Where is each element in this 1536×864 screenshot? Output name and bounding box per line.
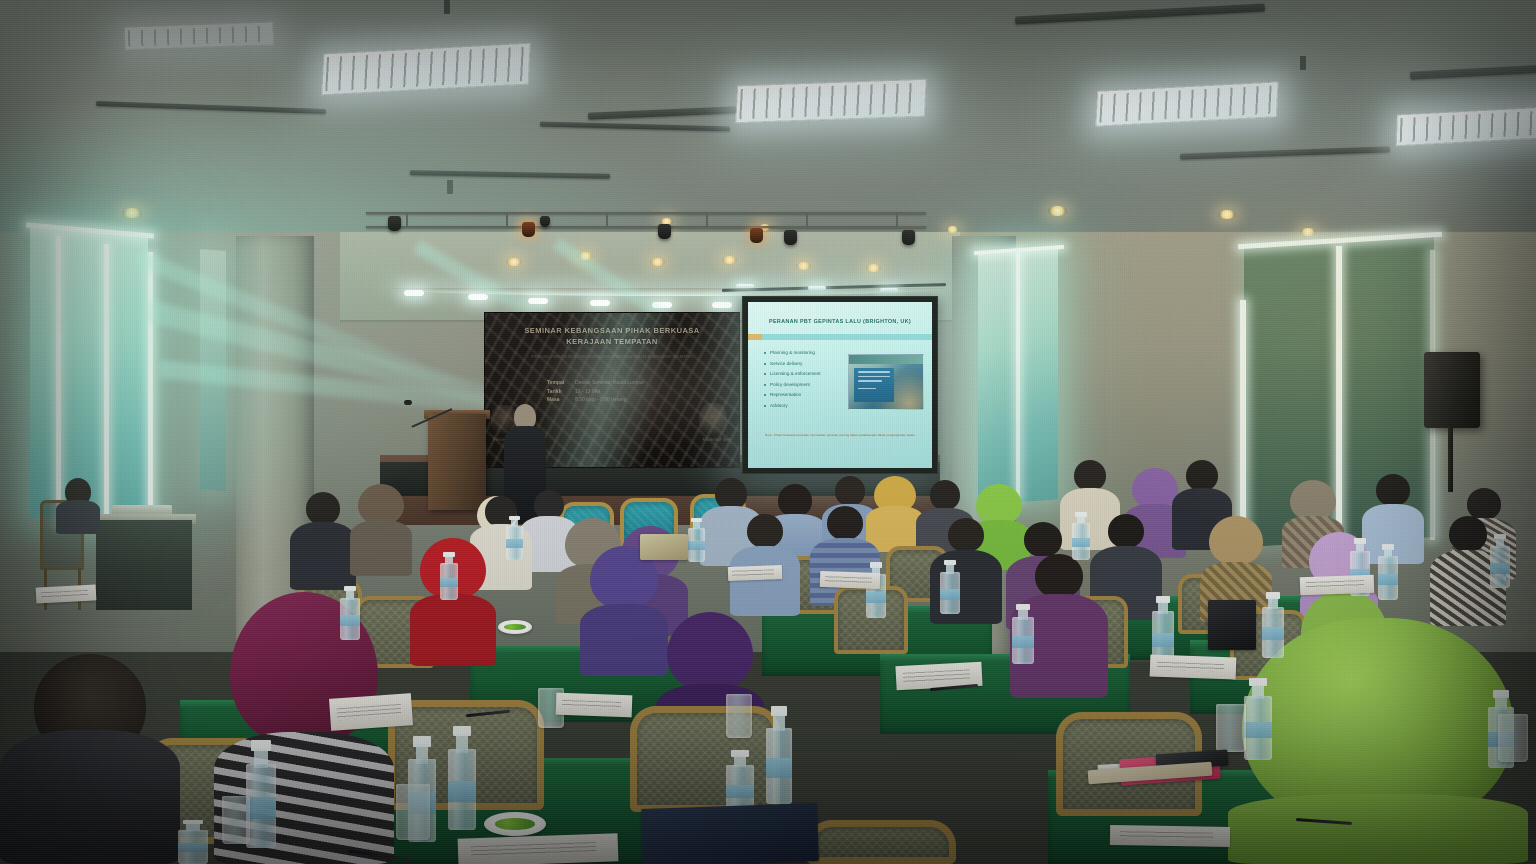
cove-lamp (652, 302, 672, 308)
downlight (650, 258, 665, 266)
water-bottle[interactable] (1378, 544, 1398, 600)
banner-portrait-right (699, 403, 727, 441)
cove-lamp (590, 300, 610, 306)
document-folder[interactable] (641, 803, 819, 864)
window-left-near (200, 249, 226, 491)
slide-bullet: Representation (764, 390, 860, 401)
slide-footnote: Nota : Pihak berkuasa tempatan memainkan… (762, 433, 918, 438)
drinking-glass[interactable] (222, 796, 250, 844)
downlight (722, 256, 737, 264)
ceiling-hanger (444, 0, 450, 14)
drinking-glass[interactable] (726, 694, 752, 738)
drinking-glass[interactable] (1498, 714, 1528, 762)
window-mullion (1016, 250, 1020, 500)
water-bottle[interactable] (440, 552, 458, 600)
cove-lamp (468, 294, 488, 300)
ceiling-hanger (447, 180, 453, 194)
water-bottle[interactable] (766, 706, 792, 804)
stage-spotlight (540, 216, 550, 227)
window-mullion (148, 252, 153, 536)
drinking-glass[interactable] (396, 784, 430, 840)
handout-paper[interactable] (329, 693, 413, 731)
track-lamp (736, 284, 754, 288)
stage-spotlight (388, 216, 401, 231)
water-bottle[interactable] (1262, 592, 1284, 658)
microphone-icon (404, 400, 412, 405)
downlight (1218, 210, 1236, 219)
cove-lamp (712, 302, 732, 308)
audience-person (290, 492, 356, 590)
slide-bullet: Service delivery (764, 359, 860, 370)
water-bottle[interactable] (940, 560, 960, 614)
ceiling-light-panel (735, 79, 927, 124)
downlight (1300, 228, 1316, 236)
banquet-chair[interactable] (806, 820, 956, 864)
handout-paper[interactable] (1110, 825, 1230, 847)
water-bottle[interactable] (340, 586, 360, 640)
water-bottle[interactable] (506, 516, 523, 560)
audience-person (350, 484, 412, 576)
water-bottle[interactable] (1490, 534, 1510, 588)
speaker-stand (1448, 426, 1453, 492)
loudspeaker (1424, 352, 1480, 428)
cove-lamp (528, 298, 548, 304)
handout-paper[interactable] (728, 565, 782, 581)
downlight (866, 264, 881, 272)
projection-screen: PERANAN PBT GEPINTAS LALU (BRIGHTON, UK)… (742, 296, 938, 474)
water-bottle[interactable] (688, 518, 705, 562)
downlight (796, 262, 811, 270)
window-frame (1240, 300, 1246, 545)
slide-bullet: Advisory (764, 401, 860, 412)
banquet-chair[interactable] (630, 706, 780, 812)
water-bottle[interactable] (866, 562, 886, 618)
seated-person (56, 478, 100, 534)
water-bottle[interactable] (1012, 604, 1034, 664)
window-mullion (104, 244, 109, 532)
slide-accent-bar (748, 334, 932, 340)
downlight (506, 258, 522, 266)
slide-embedded-screenshot (848, 354, 924, 410)
drinking-glass[interactable] (1216, 704, 1246, 752)
slide-bullet: Licensing & enforcement (764, 369, 860, 380)
water-bottle[interactable] (178, 820, 208, 864)
water-bottle[interactable] (1072, 512, 1090, 560)
track-lamp (880, 288, 898, 292)
stage-spotlight (750, 228, 763, 243)
slide-title: PERANAN PBT GEPINTAS LALU (BRIGHTON, UK) (754, 319, 926, 325)
stage-spotlight (902, 230, 915, 245)
mint-plate[interactable] (484, 812, 546, 836)
foreground-person-left (0, 650, 180, 864)
handout-paper[interactable] (820, 571, 881, 589)
track-lamp (808, 286, 826, 290)
document-folder[interactable] (1208, 600, 1256, 650)
projected-slide: PERANAN PBT GEPINTAS LALU (BRIGHTON, UK)… (748, 302, 932, 468)
stage-spotlight (658, 224, 671, 239)
slide-bullet: Planning & monitoring (764, 348, 860, 359)
stage-spotlight (784, 230, 797, 245)
cove-lamp (404, 290, 424, 296)
downlight (122, 208, 142, 218)
slide-bullet-list: Planning & monitoring Service delivery L… (764, 348, 860, 411)
handout-paper[interactable] (1150, 655, 1237, 680)
side-table (96, 520, 192, 610)
handout-paper[interactable] (556, 693, 633, 718)
downlight (578, 252, 593, 260)
mint-plate[interactable] (498, 620, 532, 634)
document-folder[interactable] (640, 534, 688, 560)
audience-person (580, 546, 668, 676)
banner-subtitle: PERANCANGAN DAN PENGURUSAN PENGANGKUTAN … (495, 353, 729, 360)
handout-paper[interactable] (458, 833, 619, 864)
conference-hall-photo: SEMINAR KEBANGSAAN PIHAK BERKUASA KERAJA… (0, 0, 1536, 864)
lighting-truss (366, 210, 926, 236)
water-bottle[interactable] (1244, 678, 1272, 760)
slide-bullet: Policy development (764, 380, 860, 391)
stage-spotlight (522, 222, 535, 237)
water-bottle[interactable] (246, 740, 276, 848)
downlight (1048, 206, 1067, 216)
banner-title: SEMINAR KEBANGSAAN PIHAK BERKUASA KERAJA… (485, 325, 739, 347)
handout-paper[interactable] (36, 584, 97, 603)
banner-meta: TempatDewan Seminar, Kuala Lumpur Tarikh… (547, 379, 644, 405)
ceiling-hanger (1300, 56, 1306, 70)
downlight (946, 226, 959, 233)
water-bottle[interactable] (448, 726, 476, 830)
handout-paper[interactable] (1300, 575, 1375, 596)
